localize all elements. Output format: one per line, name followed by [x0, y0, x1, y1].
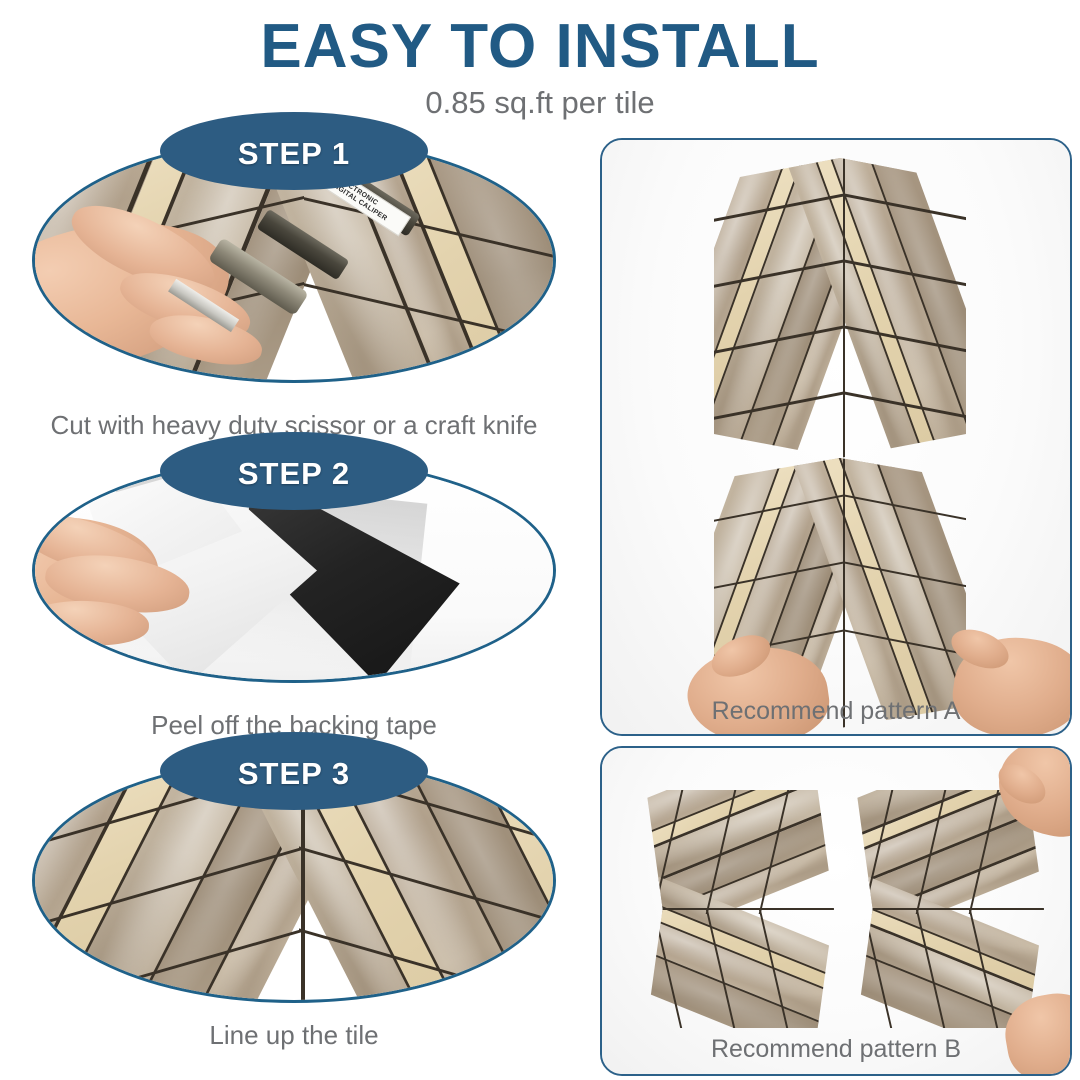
utility-knife: ELECTRONIC DIGITAL CALIPER [159, 179, 501, 370]
pattern-a-label: Recommend pattern A [602, 697, 1070, 726]
step-2-block: STEP 2 Peel off the backing tape [0, 458, 588, 758]
page-title: EASY TO INSTALL [0, 0, 1080, 79]
step-3-caption: Line up the tile [0, 1020, 588, 1051]
step-1-block: ELECTRONIC DIGITAL CALIPER STEP 1 Cut wi… [0, 138, 588, 458]
pattern-a-panel: Recommend pattern A [600, 138, 1072, 736]
step-1-photo-frame: ELECTRONIC DIGITAL CALIPER STEP 1 [32, 138, 556, 383]
chevron-sheet-a-top [714, 158, 966, 458]
step-3-block: STEP 3 Line up the tile [0, 758, 588, 1078]
pattern-a-photo [602, 140, 1070, 734]
page-subtitle: 0.85 sq.ft per tile [0, 79, 1080, 121]
step-3-badge-label: STEP 3 [238, 754, 350, 794]
step-3-photo-frame: STEP 3 [32, 758, 556, 1003]
pattern-b-label: Recommend pattern B [602, 1035, 1070, 1064]
pattern-b-photo [602, 748, 1070, 1074]
chevron-sheet-b-right [840, 790, 1044, 1028]
pattern-b-panel: Recommend pattern B [600, 746, 1072, 1076]
steps-column: ELECTRONIC DIGITAL CALIPER STEP 1 Cut wi… [0, 138, 588, 1078]
step-2-badge-label: STEP 2 [238, 454, 350, 494]
chevron-sheet-b-left [630, 790, 834, 1028]
infographic-page: EASY TO INSTALL 0.85 sq.ft per tile [0, 0, 1080, 1080]
step-2-photo-frame: STEP 2 [32, 458, 556, 683]
step-1-badge-label: STEP 1 [238, 134, 350, 174]
header: EASY TO INSTALL 0.85 sq.ft per tile [0, 0, 1080, 135]
